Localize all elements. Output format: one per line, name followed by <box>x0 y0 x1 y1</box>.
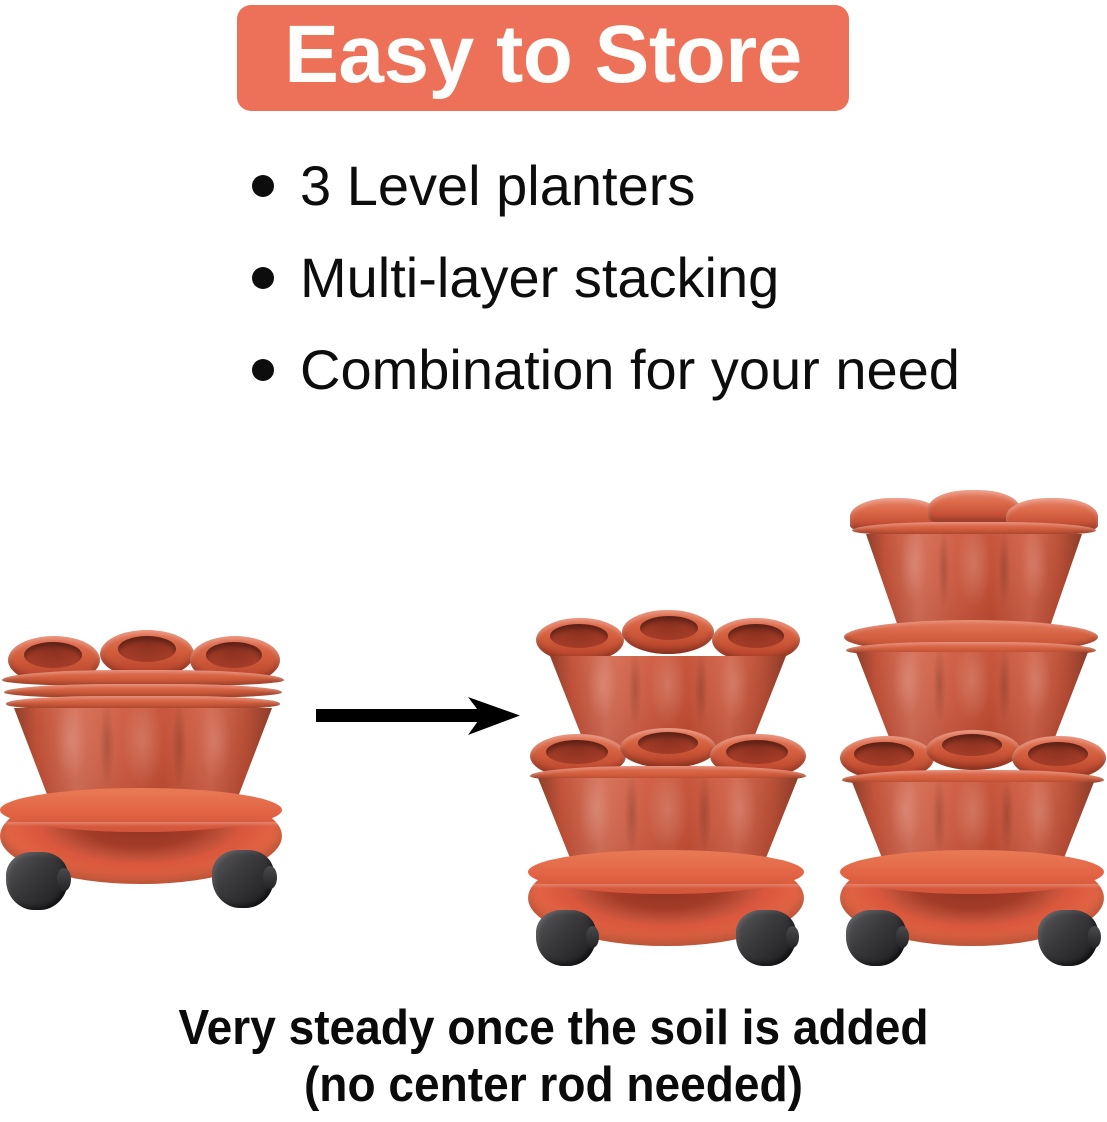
caster-wheel <box>1038 910 1098 966</box>
feature-label: Combination for your need <box>300 340 960 400</box>
rim-pocket-opening <box>24 642 82 668</box>
caster-wheel <box>736 910 796 966</box>
feature-item-levels: 3 Level planters <box>252 140 1072 232</box>
caption-line-1: Very steady once the soil is added <box>33 1000 1074 1057</box>
caster-wheel <box>6 852 68 910</box>
rim-pocket-opening <box>1028 742 1088 766</box>
rim-pocket-opening <box>728 624 784 648</box>
rim-pocket-opening <box>726 740 788 764</box>
rim-pocket-opening <box>640 616 698 640</box>
bottom-caption: Very steady once the soil is added (no c… <box>0 1000 1107 1114</box>
bullet-dot-icon <box>252 267 274 289</box>
title-banner: Easy to Store <box>237 5 849 111</box>
rim-pocket-opening <box>118 636 176 662</box>
rim-pocket-opening <box>854 742 914 766</box>
tier-ribs <box>866 534 1082 634</box>
single-tier-planter <box>0 630 285 920</box>
feature-item-combination: Combination for your need <box>252 324 1072 416</box>
two-tier-planter <box>528 610 808 920</box>
three-tier-planter <box>840 490 1107 920</box>
rim-pocket-opening <box>550 624 608 648</box>
rim-pocket-opening <box>638 732 698 754</box>
bullet-dot-icon <box>252 359 274 381</box>
rim-pocket-opening <box>206 642 262 668</box>
bullet-dot-icon <box>252 175 274 197</box>
caption-line-2: (no center rod needed) <box>33 1057 1074 1114</box>
caster-wheel <box>846 910 906 966</box>
product-scene <box>0 470 1107 930</box>
infographic-page: Easy to Store 3 Level planters Multi-lay… <box>0 0 1107 1122</box>
caster-wheel <box>536 910 596 966</box>
page-title: Easy to Store <box>284 14 802 96</box>
feature-item-stacking: Multi-layer stacking <box>252 232 1072 324</box>
rim-pocket-opening <box>546 740 608 764</box>
rim-pocket-opening <box>942 734 1002 756</box>
caster-wheel <box>212 850 274 908</box>
right-arrow-icon <box>316 694 520 738</box>
feature-list: 3 Level planters Multi-layer stacking Co… <box>252 140 1072 416</box>
feature-label: 3 Level planters <box>300 156 695 216</box>
feature-label: Multi-layer stacking <box>300 248 779 308</box>
top-tier-body <box>866 534 1082 634</box>
flow-arrow <box>316 694 520 738</box>
